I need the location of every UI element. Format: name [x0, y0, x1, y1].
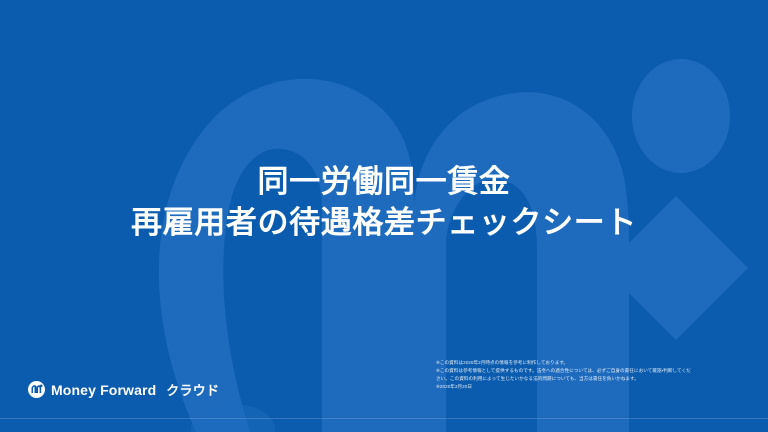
title-line-1: 同一労働同一賃金: [0, 162, 768, 202]
disclaimer-line: さい。この資料の利用によって生じたいかなる法的問題についても、当方は責任を負いか…: [436, 375, 736, 383]
title-line-2: 再雇用者の待遇格差チェックシート: [0, 202, 768, 244]
logo-wordmark: Money Forward: [51, 382, 156, 398]
title-slide: 同一労働同一賃金 再雇用者の待遇格差チェックシート ※この資料は2020年2月時…: [0, 0, 768, 432]
disclaimer-line: ※2020年2月20日: [436, 383, 736, 391]
brand-logo: Money Forward クラウド: [28, 380, 219, 399]
page-title: 同一労働同一賃金 再雇用者の待遇格差チェックシート: [0, 162, 768, 244]
disclaimer-line: ※この資料は2020年2月時点の情報を参考に制作しております。: [436, 359, 736, 367]
logo-suffix: クラウド: [166, 380, 219, 399]
disclaimer-line: ※この資料は参考情報として提供するものです。法令への適合性については、必ずご自身…: [436, 367, 736, 375]
bottom-accent-rule: [0, 418, 768, 419]
money-forward-mark-icon: [28, 381, 45, 398]
disclaimer-block: ※この資料は2020年2月時点の情報を参考に制作しております。 ※この資料は参考…: [436, 359, 736, 391]
